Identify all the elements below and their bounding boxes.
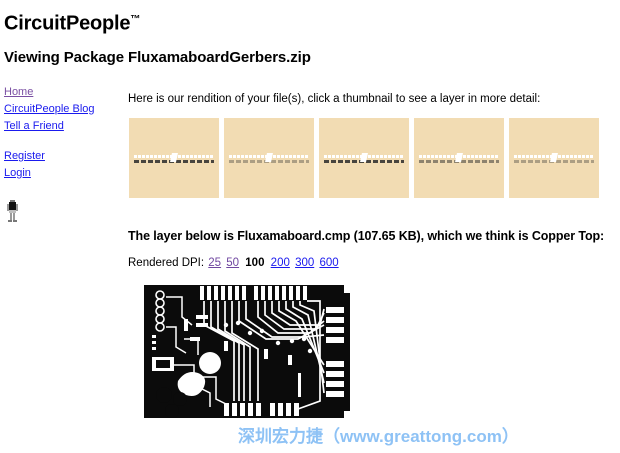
dpi-label: Rendered DPI: [128,257,204,269]
site-logo-title: CircuitPeople™ [4,9,140,35]
watermark-text: 深圳宏力捷（www.greattong.com） [238,427,519,447]
dpi-option-200[interactable]: 200 [271,257,290,269]
sidebar-item-blog[interactable]: CircuitPeople Blog [4,101,122,118]
thumbnail-trace-strip [419,155,499,163]
thumbnail-row [129,118,599,198]
site-name: CircuitPeople [4,13,130,35]
trademark-symbol: ™ [130,14,140,25]
gerber-layer-thumbnail-1[interactable] [129,118,219,198]
sidebar-item-tell-a-friend[interactable]: Tell a Friend [4,118,122,135]
gerber-layer-thumbnail-4[interactable] [414,118,504,198]
intro-text: Here is our rendition of your file(s), c… [128,92,616,106]
sidebar-item-register[interactable]: Register [4,148,122,165]
dpi-option-600[interactable]: 600 [319,257,338,269]
page-title: Viewing Package FluxamaboardGerbers.zip [4,49,311,67]
dpi-selector: Rendered DPI: 25 50 100 200 300 600 [128,256,340,270]
thumbnail-trace-strip [134,155,214,163]
gerber-layer-thumbnail-5[interactable] [509,118,599,198]
thumbnail-trace-strip [324,155,404,163]
gerber-layer-thumbnail-2[interactable] [224,118,314,198]
sidebar-divider-space [4,135,122,148]
dpi-option-25[interactable]: 25 [208,257,221,269]
dpi-option-100-current: 100 [245,257,264,269]
layer-description-heading: The layer below is Fluxamaboard.cmp (107… [128,229,604,244]
gerber-layer-thumbnail-3[interactable] [319,118,409,198]
person-figure-icon [4,200,21,222]
thumbnail-trace-strip [514,155,594,163]
dpi-option-300[interactable]: 300 [295,257,314,269]
copper-top-layer-render[interactable] [138,281,367,422]
sidebar-item-home[interactable]: Home [4,84,122,101]
thumbnail-trace-strip [229,155,309,163]
sidebar-nav: Home CircuitPeople Blog Tell a Friend Re… [4,84,122,182]
main-content: Here is our rendition of your file(s), c… [128,84,616,106]
sidebar-item-login[interactable]: Login [4,165,122,182]
dpi-option-50[interactable]: 50 [226,257,239,269]
